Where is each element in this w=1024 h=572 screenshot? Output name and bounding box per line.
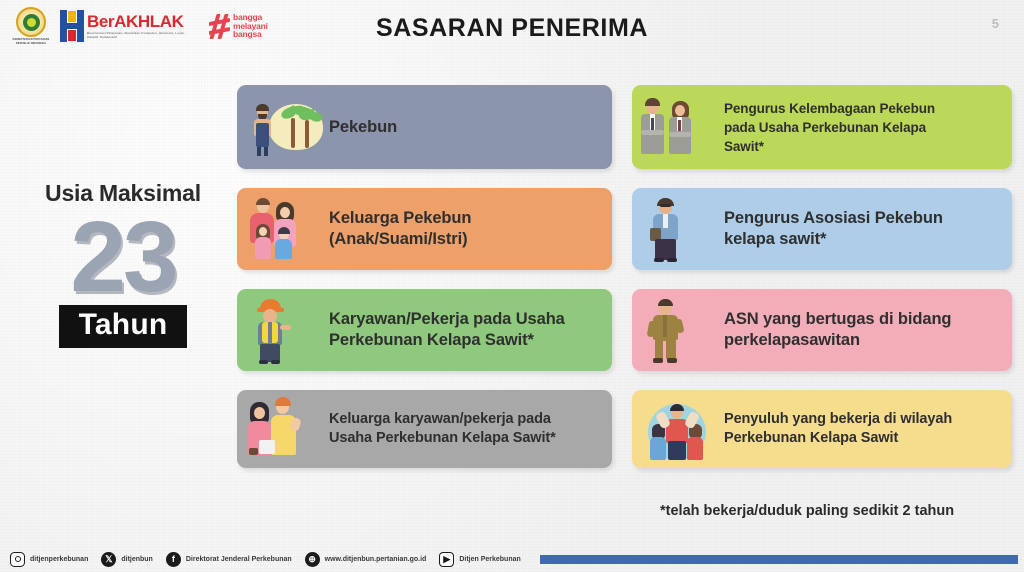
card-asn-label: ASN yang bertugas di bidang perkelapasaw… — [724, 309, 1002, 351]
card-line-1: Pengurus Kelembagaan Pekebun — [724, 99, 1002, 118]
ministry-caption: KEMENTERIAN PERTANIAN REPUBLIK INDONESIA — [10, 38, 52, 45]
footer-accent-bar — [540, 555, 1018, 564]
footer-item-website[interactable]: ⊕ www.ditjenbun.pertanian.go.id — [305, 552, 427, 567]
max-age-panel: Usia Maksimal 23 Tahun — [18, 180, 228, 348]
card-line-2: kelapa sawit* — [724, 229, 1002, 250]
footer-item-facebook[interactable]: f Direktorat Jenderal Perkebunan — [166, 552, 292, 567]
card-pengurus-asosiasi-label: Pengurus Asosiasi Pekebun kelapa sawit* — [724, 208, 1002, 250]
footer-label-youtube: Ditjen Perkebunan — [459, 556, 520, 563]
max-age-number: 23 — [18, 203, 228, 311]
card-keluarga-karyawan[interactable]: Keluarga karyawan/pekerja pada Usaha Per… — [237, 390, 612, 468]
footer-bar: ditjenperkebunan 𝕏 ditjenbun f Direktora… — [0, 546, 1024, 572]
card-pekebun[interactable]: Pekebun — [237, 85, 612, 169]
family-icon — [243, 196, 325, 262]
footnote: *telah bekerja/duduk paling sedikit 2 ta… — [660, 503, 954, 519]
max-age-unit-box: Tahun — [59, 305, 188, 348]
card-line-1: ASN yang bertugas di bidang — [724, 309, 1002, 330]
globe-icon: ⊕ — [305, 552, 320, 567]
footer-label-instagram: ditjenperkebunan — [30, 556, 88, 563]
berakhlak-wordmark: BerAKHLAK — [87, 13, 197, 30]
card-asn[interactable]: ASN yang bertugas di bidang perkelapasaw… — [632, 289, 1012, 371]
card-line-1: Keluarga Pekebun — [329, 208, 602, 229]
footer-label-x: ditjenbun — [121, 556, 153, 563]
card-line-2: Perkebunan Kelapa Sawit* — [329, 330, 602, 351]
max-age-unit: Tahun — [79, 308, 168, 341]
card-pengurus-kelembagaan[interactable]: Pengurus Kelembagaan Pekebun pada Usaha … — [632, 85, 1012, 169]
instagram-icon — [10, 552, 25, 567]
card-penyuluh-label: Penyuluh yang bekerja di wilayah Perkebu… — [724, 410, 1002, 449]
bangga-hash-icon — [209, 14, 230, 39]
header-logos: KEMENTERIAN PERTANIAN REPUBLIK INDONESIA… — [10, 4, 268, 48]
card-pengurus-kelembagaan-label: Pengurus Kelembagaan Pekebun pada Usaha … — [724, 99, 1002, 156]
card-line-2: Perkebunan Kelapa Sawit — [724, 429, 1002, 449]
two-officials-icon — [638, 94, 720, 160]
card-penyuluh[interactable]: Penyuluh yang bekerja di wilayah Perkebu… — [632, 390, 1012, 468]
card-line-2: pada Usaha Perkebunan Kelapa — [724, 118, 1002, 137]
worker-icon — [243, 297, 325, 363]
berakhlak-logo: BerAKHLAK Berorientasi Pelayanan, Akunta… — [60, 10, 197, 42]
card-line-2: (Anak/Suami/Istri) — [329, 229, 602, 250]
bangga-melayani-bangsa-logo: bangga melayani bangsa — [209, 13, 268, 39]
extension-group-icon — [638, 396, 720, 462]
berakhlak-mark-icon — [60, 10, 84, 42]
page-number: 5 — [992, 16, 999, 31]
card-line-1: Keluarga karyawan/pekerja pada — [329, 410, 602, 430]
card-keluarga-karyawan-label: Keluarga karyawan/pekerja pada Usaha Per… — [329, 410, 602, 449]
footer-item-instagram[interactable]: ditjenperkebunan — [10, 552, 88, 567]
card-line-1: Penyuluh yang bekerja di wilayah — [724, 410, 1002, 430]
x-twitter-icon: 𝕏 — [101, 552, 116, 567]
card-line-1: Karyawan/Pekerja pada Usaha — [329, 309, 602, 330]
card-karyawan-pekerja-label: Karyawan/Pekerja pada Usaha Perkebunan K… — [329, 309, 602, 351]
footer-label-website: www.ditjenbun.pertanian.go.id — [325, 556, 427, 563]
footer-label-facebook: Direktorat Jenderal Perkebunan — [186, 556, 292, 563]
association-officer-icon — [638, 196, 720, 262]
youtube-icon: ▶ — [439, 552, 454, 567]
footer-item-youtube[interactable]: ▶ Ditjen Perkebunan — [439, 552, 520, 567]
bangga-line-3: bangsa — [233, 30, 268, 39]
card-pekebun-label: Pekebun — [329, 117, 602, 138]
card-karyawan-pekerja[interactable]: Karyawan/Pekerja pada Usaha Perkebunan K… — [237, 289, 612, 371]
slide-root: KEMENTERIAN PERTANIAN REPUBLIK INDONESIA… — [0, 0, 1024, 572]
worker-family-icon — [243, 396, 325, 462]
ministry-logo: KEMENTERIAN PERTANIAN REPUBLIK INDONESIA — [10, 4, 52, 48]
civil-servant-icon — [638, 297, 720, 363]
card-line-1: Pengurus Asosiasi Pekebun — [724, 208, 1002, 229]
card-line-2: perkelapasawitan — [724, 330, 1002, 351]
facebook-icon: f — [166, 552, 181, 567]
berakhlak-subtext: Berorientasi Pelayanan, Akuntabel, Kompe… — [87, 31, 197, 39]
farmer-palm-icon — [243, 94, 325, 160]
footer-item-x[interactable]: 𝕏 ditjenbun — [101, 552, 153, 567]
card-keluarga-pekebun[interactable]: Keluarga Pekebun (Anak/Suami/Istri) — [237, 188, 612, 270]
card-line-2: Usaha Perkebunan Kelapa Sawit* — [329, 429, 602, 449]
recipient-card-grid: Pekebun Pengurus Kelembagaan Pekebun — [237, 85, 1012, 468]
card-keluarga-pekebun-label: Keluarga Pekebun (Anak/Suami/Istri) — [329, 208, 602, 250]
card-line-3: Sawit* — [724, 137, 1002, 156]
ministry-seal-icon — [16, 7, 46, 37]
card-pengurus-asosiasi[interactable]: Pengurus Asosiasi Pekebun kelapa sawit* — [632, 188, 1012, 270]
